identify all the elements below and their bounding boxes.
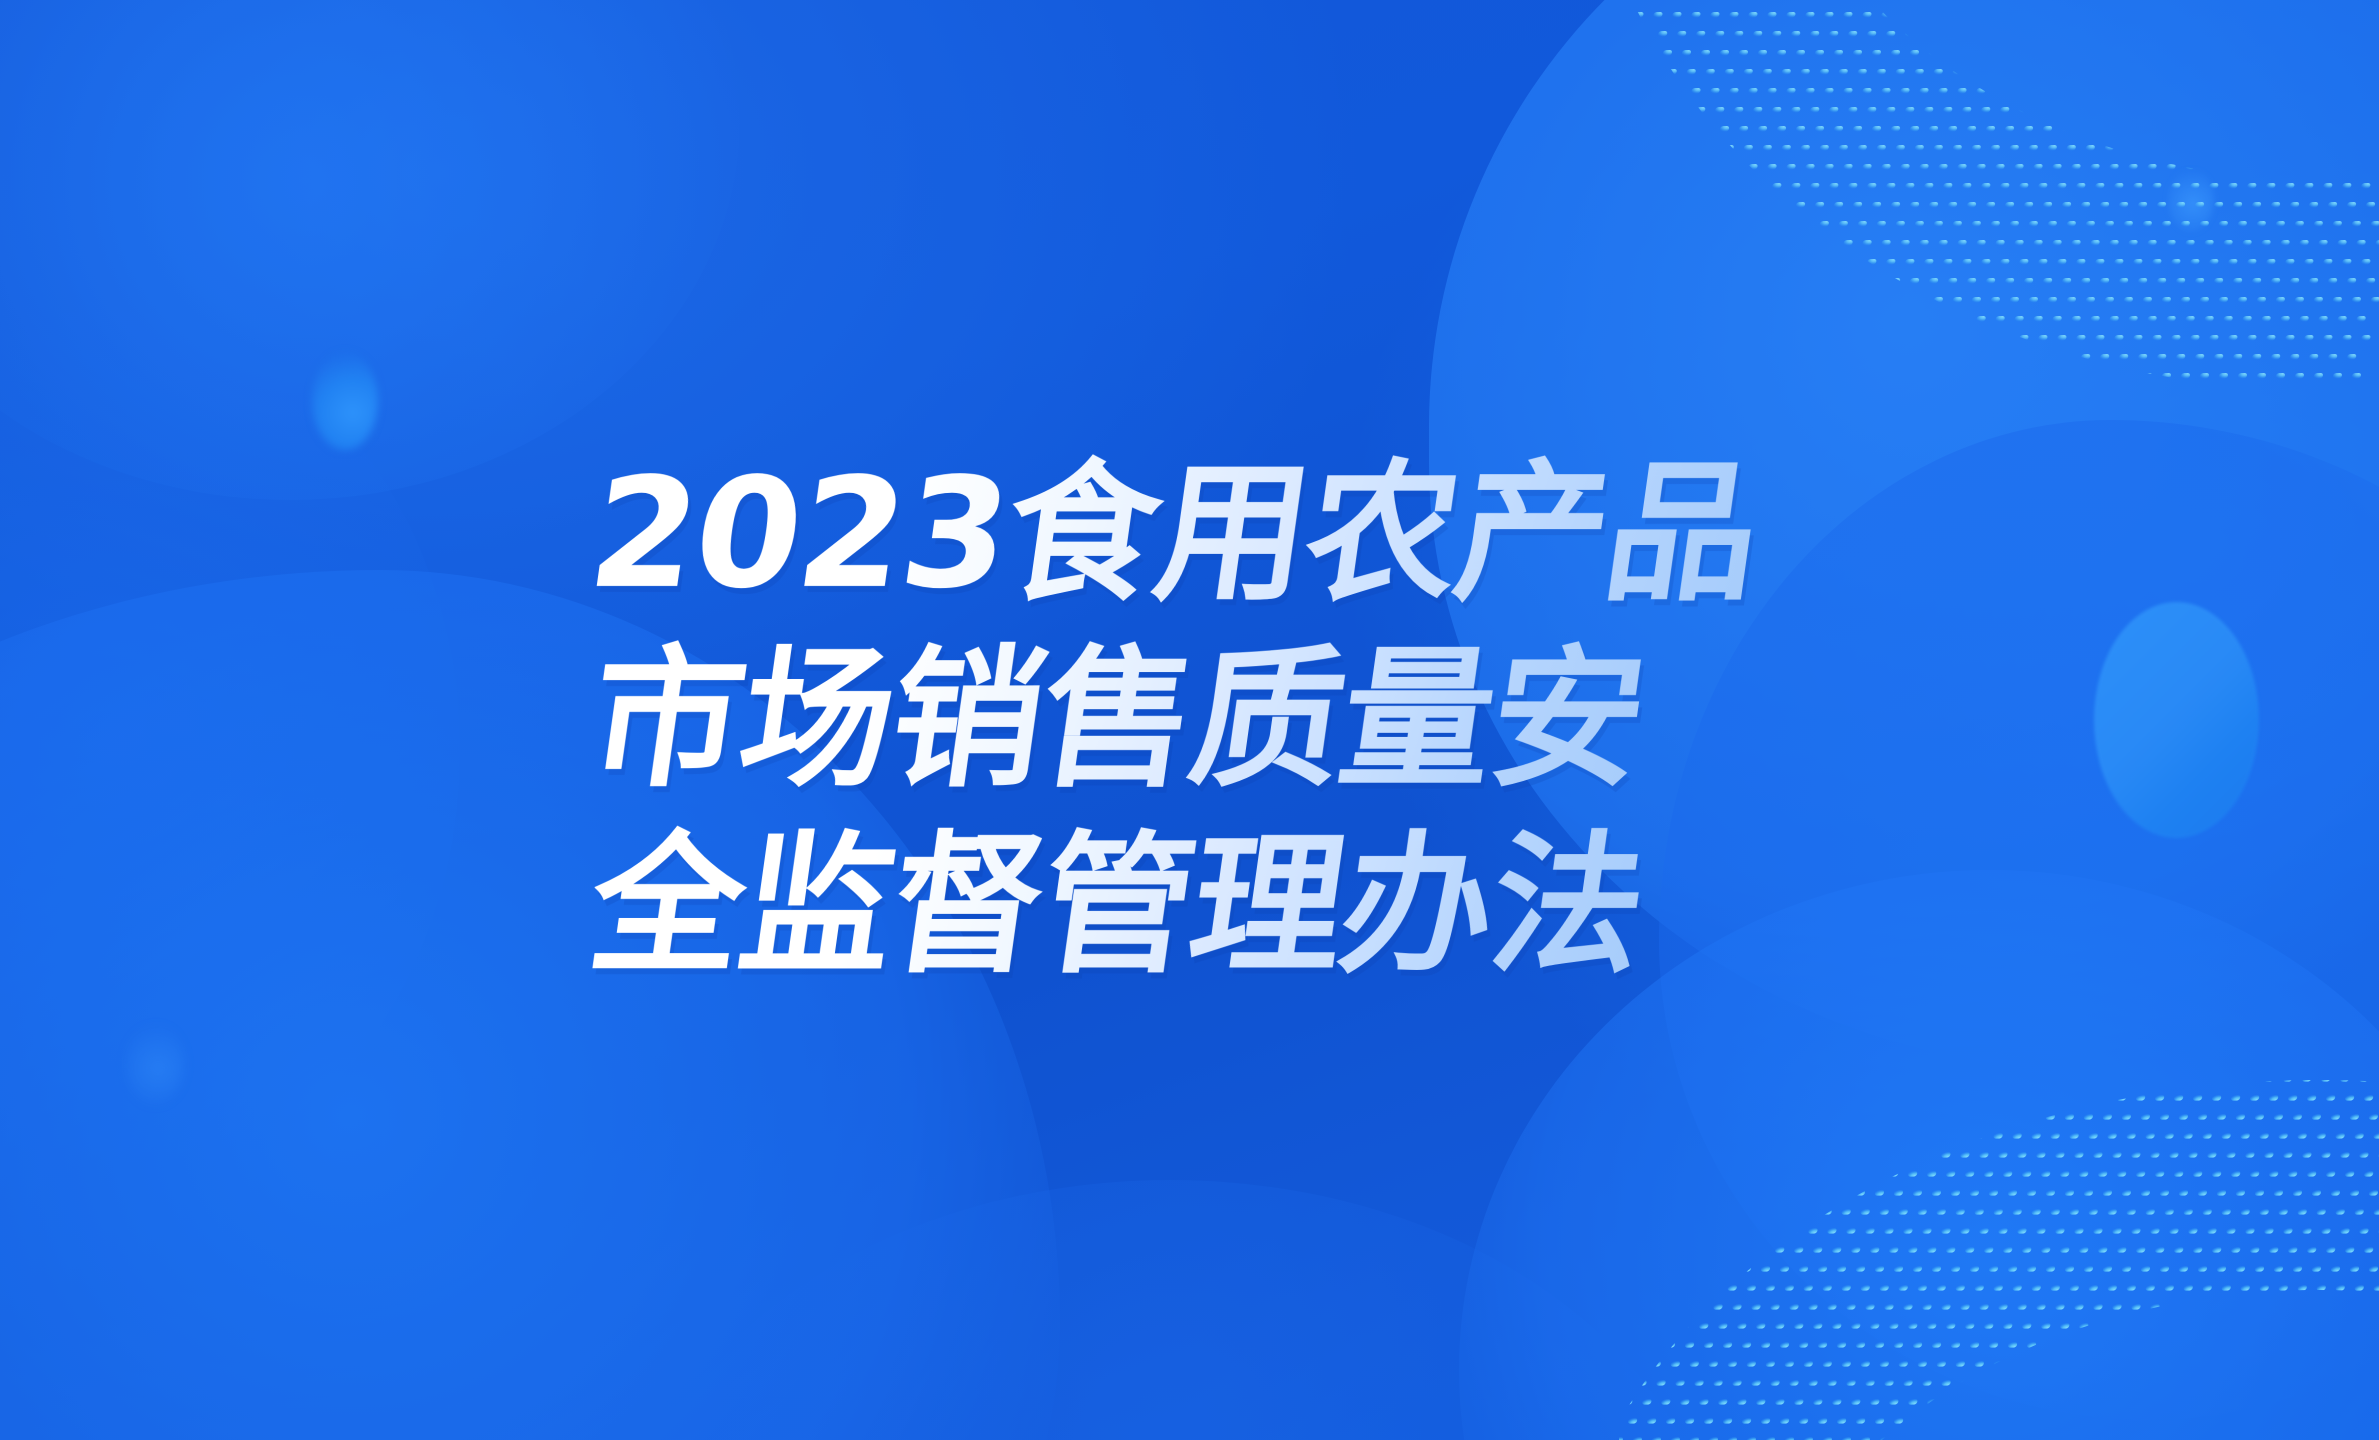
title-line-1: 2023食用农产品 bbox=[579, 441, 1770, 627]
title-line-2: 市场销售质量安 bbox=[579, 627, 1655, 813]
poster-title: 2023食用农产品 市场销售质量安 全监督管理办法 bbox=[0, 0, 2379, 1440]
title-line-3: 全监督管理办法 bbox=[579, 813, 1655, 999]
poster-canvas: 2023食用农产品 市场销售质量安 全监督管理办法 bbox=[0, 0, 2379, 1440]
